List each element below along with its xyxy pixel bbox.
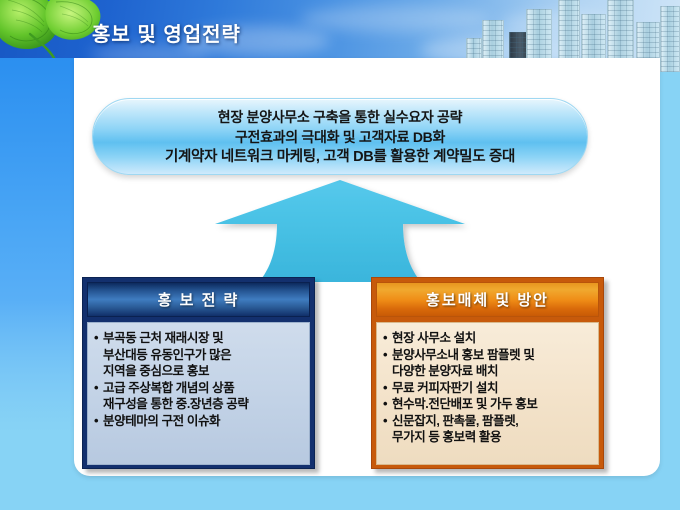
list-item-line: 신문잡지, 판촉물, 팜플렛, bbox=[392, 413, 592, 430]
list-item-text: 부곡동 근처 재래시장 및부산대등 유동인구가 많은지역을 중심으로 홍보 bbox=[103, 330, 303, 380]
promotion-media-title: 홍보매체 및 방안 bbox=[376, 282, 599, 317]
list-item-line: 부산대등 유동인구가 많은 bbox=[103, 347, 303, 364]
list-item: •고급 주상복합 개념의 상품재구성을 통한 중.장년층 공략 bbox=[94, 380, 303, 413]
list-item-text: 현수막.전단배포 및 가두 홍보 bbox=[392, 396, 592, 413]
bullet-dot-icon: • bbox=[383, 330, 392, 347]
bullet-dot-icon: • bbox=[383, 347, 392, 364]
main-message-callout: 현장 분양사무소 구축을 통한 실수요자 공략 구전효과의 극대화 및 고객자료… bbox=[92, 98, 588, 175]
bullet-dot-icon: • bbox=[94, 380, 103, 397]
list-item-line: 고급 주상복합 개념의 상품 bbox=[103, 380, 303, 397]
promotion-strategy-title: 홍 보 전 략 bbox=[87, 282, 310, 317]
callout-line-2: 구전효과의 극대화 및 고객자료 DB화 bbox=[235, 127, 445, 147]
slide-canvas: 홍보 및 영업전략 현장 분양사무소 구축을 통한 실수요자 공략 구전효과의 … bbox=[0, 0, 680, 510]
callout-line-3: 기계약자 네트워크 마케팅, 고객 DB를 활용한 계약밀도 증대 bbox=[165, 147, 515, 167]
list-item: •분양테마의 구전 이슈화 bbox=[94, 413, 303, 430]
promotion-strategy-box: 홍 보 전 략 •부곡동 근처 재래시장 및부산대등 유동인구가 많은지역을 중… bbox=[82, 277, 315, 469]
promotion-media-box: 홍보매체 및 방안 •현장 사무소 설치•분양사무소내 홍보 팜플렛 및다양한 … bbox=[371, 277, 604, 469]
list-item-line: 부곡동 근처 재래시장 및 bbox=[103, 330, 303, 347]
list-item-line: 무료 커피자판기 설치 bbox=[392, 380, 592, 397]
bullet-dot-icon: • bbox=[94, 413, 103, 430]
list-item-line: 현장 사무소 설치 bbox=[392, 330, 592, 347]
list-item: •부곡동 근처 재래시장 및부산대등 유동인구가 많은지역을 중심으로 홍보 bbox=[94, 330, 303, 380]
list-item-text: 현장 사무소 설치 bbox=[392, 330, 592, 347]
list-item-line: 지역을 중심으로 홍보 bbox=[103, 363, 303, 380]
list-item-text: 분양테마의 구전 이슈화 bbox=[103, 413, 303, 430]
list-item-text: 고급 주상복합 개념의 상품재구성을 통한 중.장년층 공략 bbox=[103, 380, 303, 413]
list-item-text: 무료 커피자판기 설치 bbox=[392, 380, 592, 397]
bullet-dot-icon: • bbox=[383, 396, 392, 413]
callout-line-1: 현장 분양사무소 구축을 통한 실수요자 공략 bbox=[218, 107, 462, 127]
bullet-dot-icon: • bbox=[383, 413, 392, 430]
list-item-line: 분양사무소내 홍보 팜플렛 및 bbox=[392, 347, 592, 364]
list-item: •신문잡지, 판촉물, 팜플렛,무가지 등 홍보력 활용 bbox=[383, 413, 592, 446]
left-accent-strip-fade bbox=[0, 300, 74, 476]
up-arrow-shape bbox=[207, 178, 473, 282]
list-item-line: 분양테마의 구전 이슈화 bbox=[103, 413, 303, 430]
page-title: 홍보 및 영업전략 bbox=[92, 18, 241, 47]
promotion-strategy-body: •부곡동 근처 재래시장 및부산대등 유동인구가 많은지역을 중심으로 홍보•고… bbox=[87, 322, 310, 465]
list-item: •무료 커피자판기 설치 bbox=[383, 380, 592, 397]
list-item: •현장 사무소 설치 bbox=[383, 330, 592, 347]
list-item-line: 무가지 등 홍보력 활용 bbox=[392, 429, 592, 446]
list-item-line: 다양한 분양자료 배치 bbox=[392, 363, 592, 380]
list-item-text: 신문잡지, 판촉물, 팜플렛,무가지 등 홍보력 활용 bbox=[392, 413, 592, 446]
list-item-line: 재구성을 통한 중.장년층 공략 bbox=[103, 396, 303, 413]
cloud-decoration bbox=[300, 6, 490, 32]
list-item-line: 현수막.전단배포 및 가두 홍보 bbox=[392, 396, 592, 413]
bullet-dot-icon: • bbox=[383, 380, 392, 397]
list-item: •분양사무소내 홍보 팜플렛 및다양한 분양자료 배치 bbox=[383, 347, 592, 380]
list-item-text: 분양사무소내 홍보 팜플렛 및다양한 분양자료 배치 bbox=[392, 347, 592, 380]
list-item: •현수막.전단배포 및 가두 홍보 bbox=[383, 396, 592, 413]
bullet-dot-icon: • bbox=[94, 330, 103, 347]
promotion-media-body: •현장 사무소 설치•분양사무소내 홍보 팜플렛 및다양한 분양자료 배치•무료… bbox=[376, 322, 599, 465]
